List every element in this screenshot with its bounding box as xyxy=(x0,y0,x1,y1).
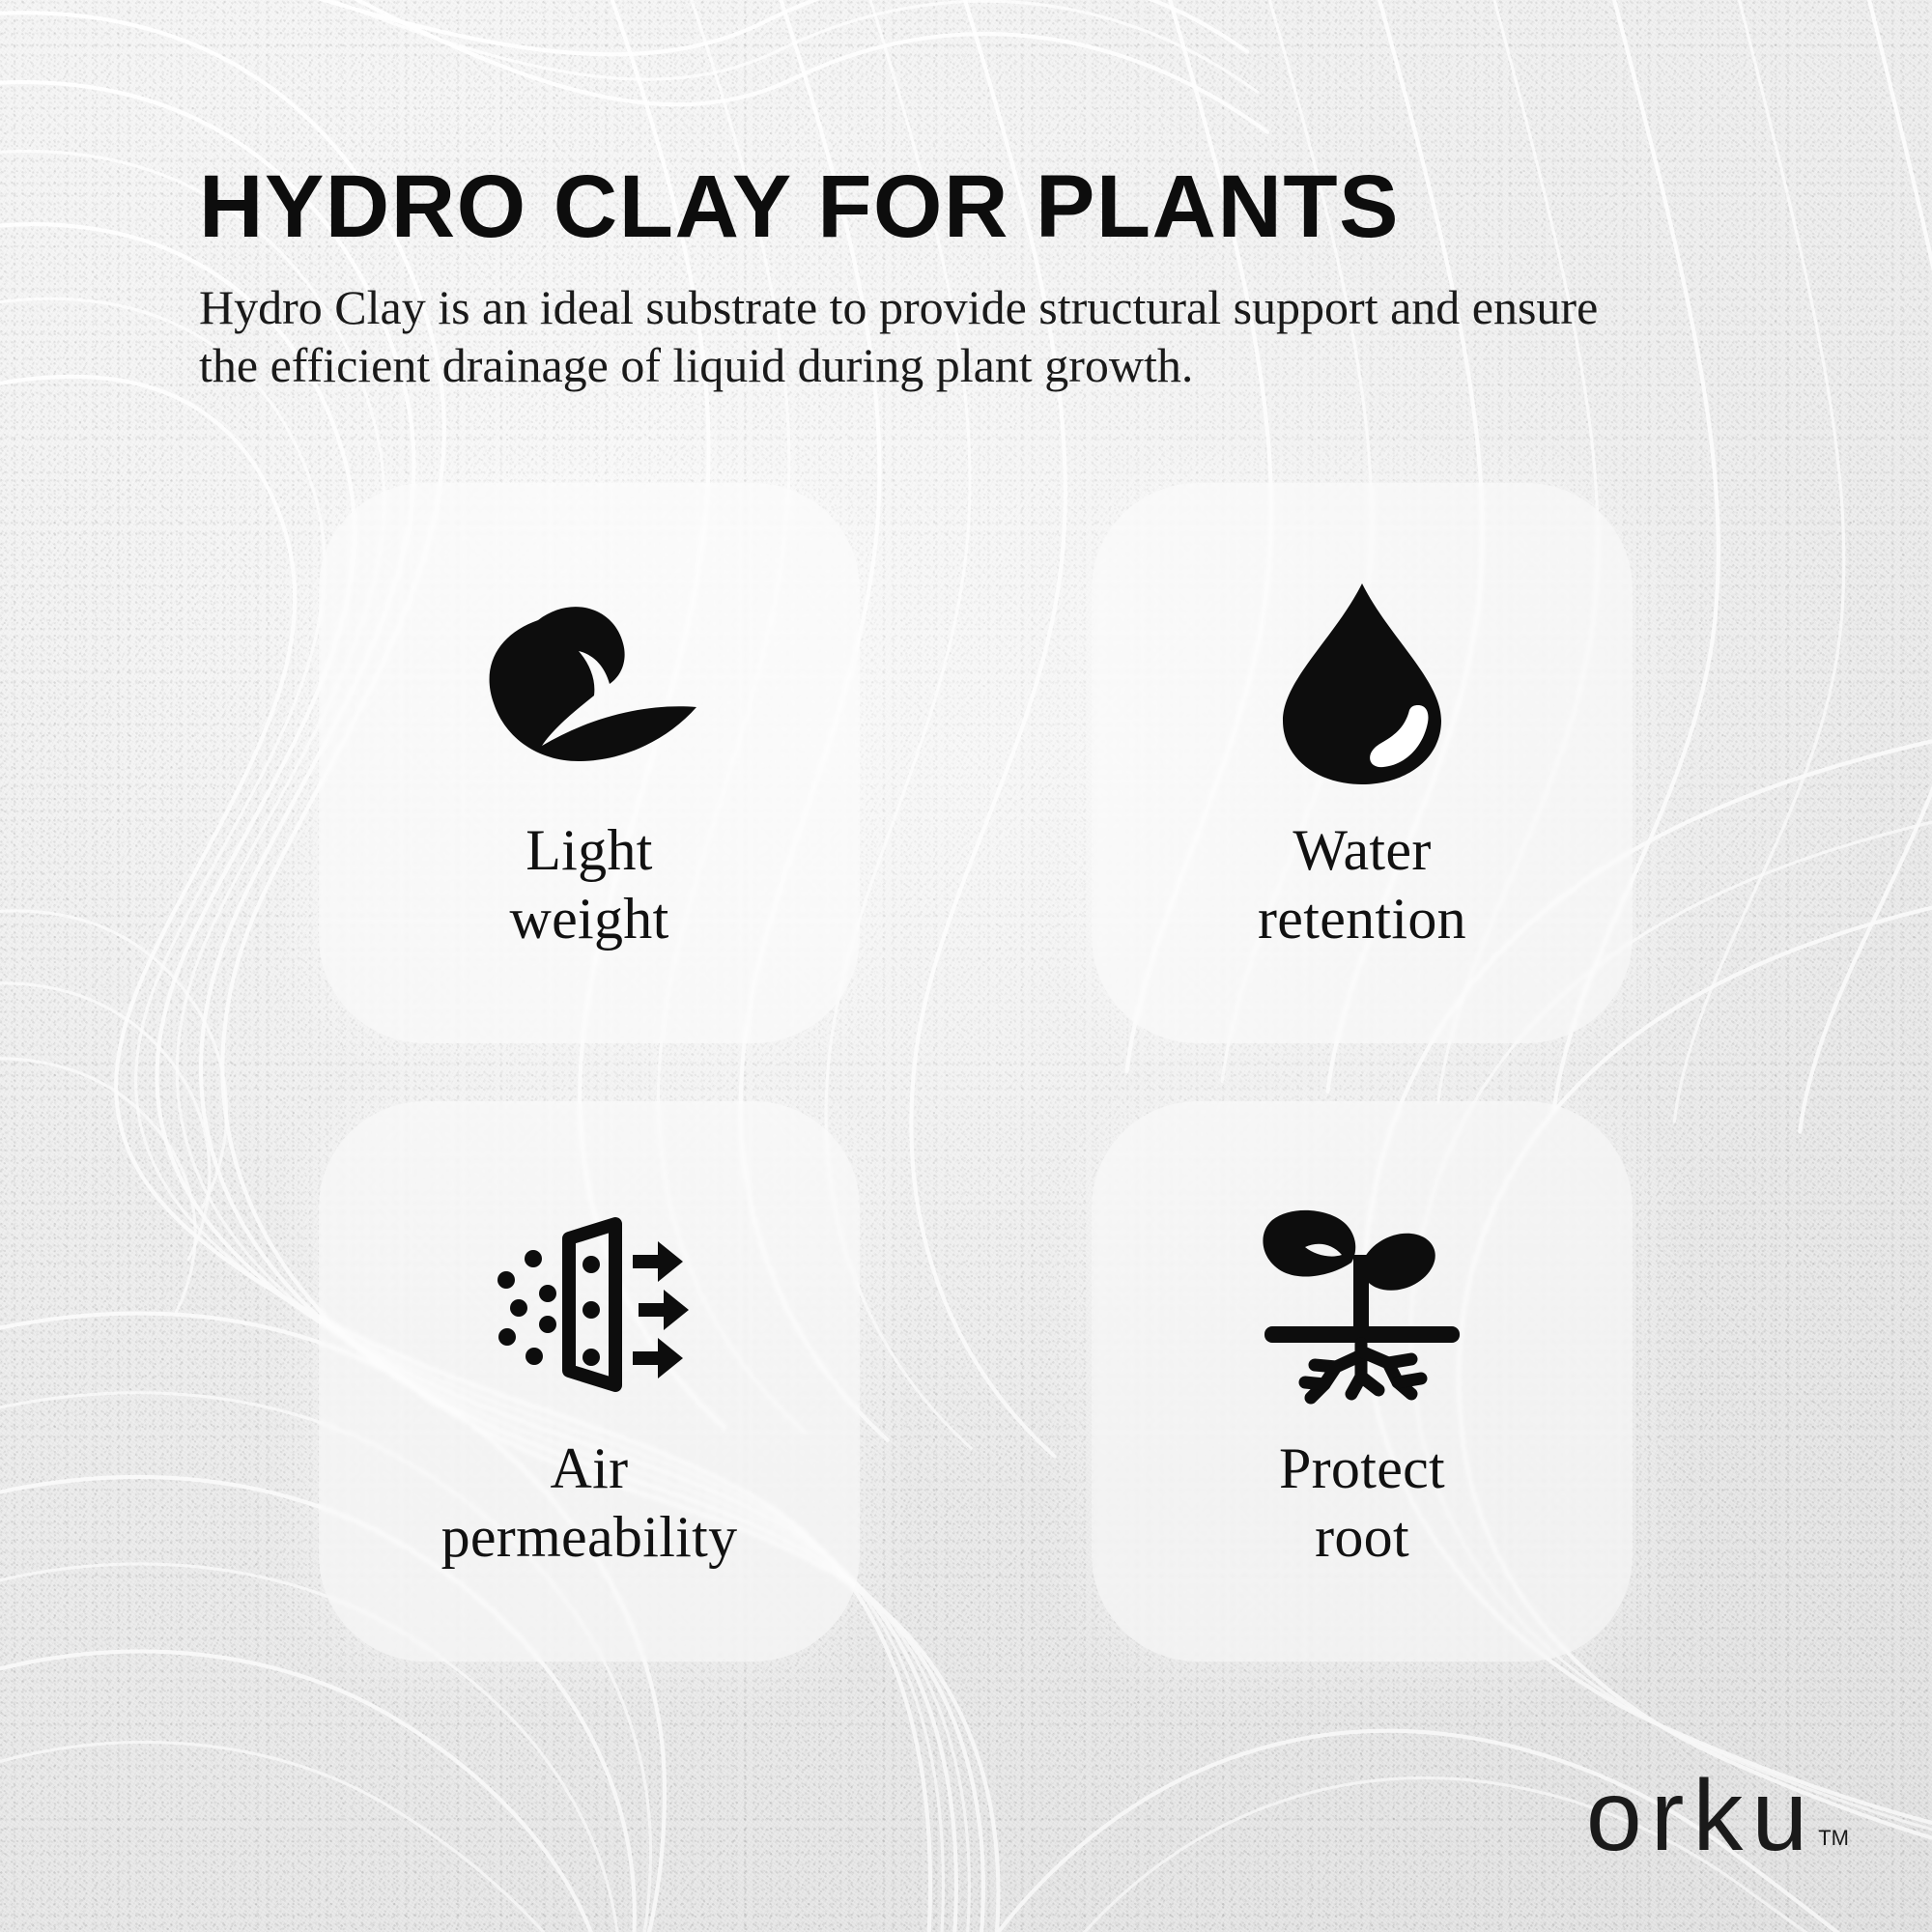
feature-card-label: Air permeability xyxy=(441,1435,738,1572)
trademark-symbol: TM xyxy=(1818,1826,1849,1851)
subtitle-line-2: the efficient drainage of liquid during … xyxy=(199,336,1745,394)
brand-logo: orku TM xyxy=(1586,1772,1849,1862)
air-permeability-icon xyxy=(478,1191,700,1413)
feature-card-label: Light weight xyxy=(509,816,668,953)
infographic-poster: HYDRO CLAY FOR PLANTS Hydro Clay is an i… xyxy=(0,0,1932,1932)
plant-root-icon xyxy=(1251,1191,1473,1413)
feature-card-water-retention: Water retention xyxy=(1092,483,1633,1043)
feature-card-air-permeability: Air permeability xyxy=(319,1101,860,1662)
poster-content: HYDRO CLAY FOR PLANTS Hydro Clay is an i… xyxy=(0,0,1932,1932)
water-drop-icon xyxy=(1251,573,1473,795)
logo-wordmark: orku xyxy=(1586,1772,1816,1862)
feather-icon xyxy=(478,573,700,795)
feature-card-protect-root: Protect root xyxy=(1092,1101,1633,1662)
feature-card-label: Water retention xyxy=(1258,816,1466,953)
page-subtitle: Hydro Clay is an ideal substrate to prov… xyxy=(199,278,1745,394)
page-title: HYDRO CLAY FOR PLANTS xyxy=(199,162,1764,253)
header-block: HYDRO CLAY FOR PLANTS Hydro Clay is an i… xyxy=(199,162,1764,394)
feature-card-label: Protect root xyxy=(1279,1435,1445,1572)
subtitle-line-1: Hydro Clay is an ideal substrate to prov… xyxy=(199,278,1745,336)
feature-grid: Light weight Water retention xyxy=(319,483,1633,1662)
feature-card-light-weight: Light weight xyxy=(319,483,860,1043)
